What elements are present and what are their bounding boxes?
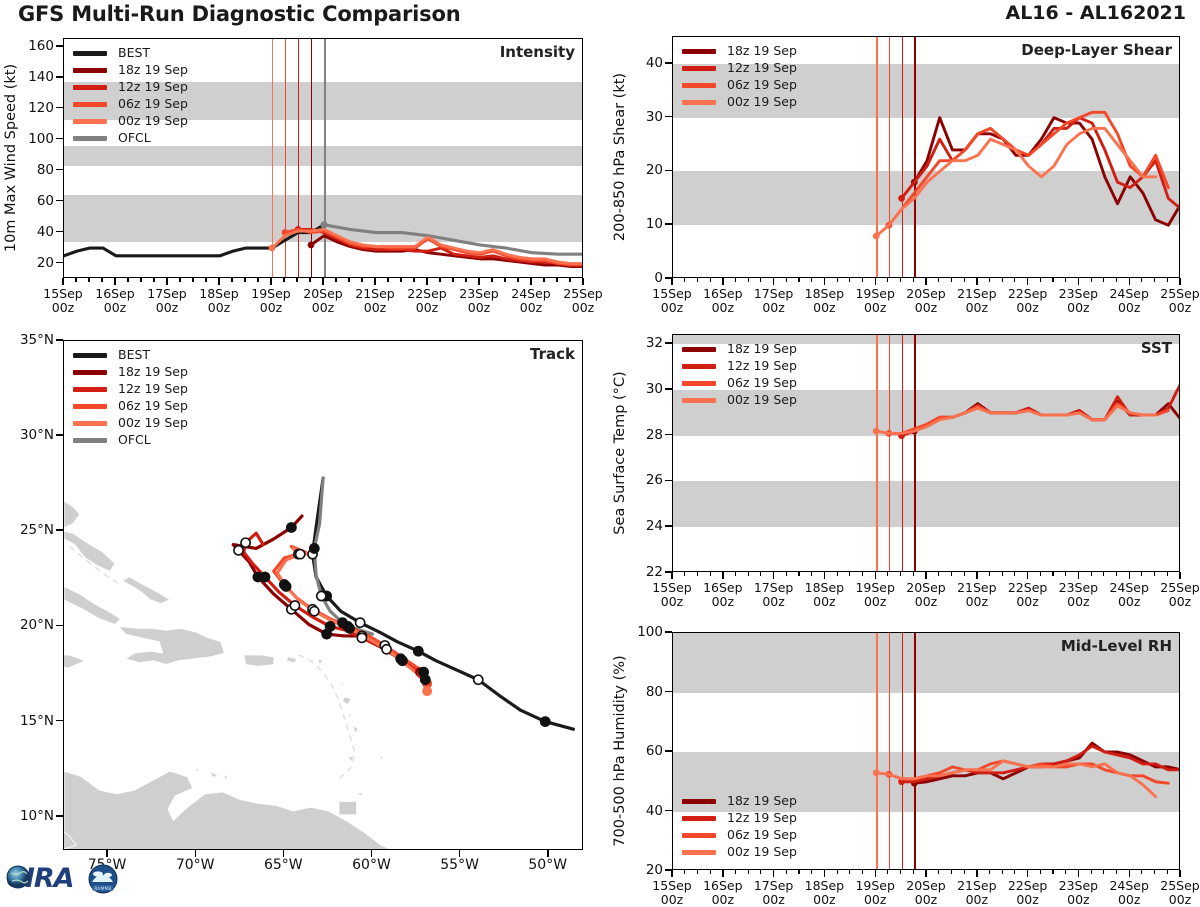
xtick-label-15Sep: 15Sep00z bbox=[43, 287, 82, 314]
xtick-minor bbox=[849, 870, 850, 874]
xtick-minor bbox=[387, 278, 388, 282]
legend-swatch-0 bbox=[682, 49, 716, 54]
ytick-label-shear-10: 10 bbox=[646, 216, 663, 232]
xtick-minor bbox=[748, 278, 749, 282]
series-line-00z-19-sep bbox=[876, 761, 1155, 797]
legend-item-12z-19-sep: 12z 19 Sep bbox=[682, 358, 797, 375]
lat-tick-mark bbox=[56, 339, 63, 341]
xtick-label-18Sep: 18Sep00z bbox=[805, 581, 844, 608]
track-time-marker bbox=[474, 675, 483, 684]
panel-rh: Mid-Level RH18z 19 Sep12z 19 Sep06z 19 S… bbox=[672, 632, 1180, 870]
track-time-marker bbox=[398, 656, 407, 665]
ytick-mark bbox=[665, 434, 672, 436]
legend-swatch-2 bbox=[73, 387, 107, 392]
xtick-minor bbox=[811, 870, 812, 874]
xtick-minor bbox=[283, 278, 284, 282]
legend-label-2: 06z 19 Sep bbox=[727, 377, 797, 390]
svg-text:RAMMB: RAMMB bbox=[94, 886, 111, 891]
xtick-mark-1 bbox=[722, 870, 724, 877]
legend-item-00z-19-sep: 00z 19 Sep bbox=[682, 94, 797, 111]
xtick-minor bbox=[244, 278, 245, 282]
xtick-label-19Sep: 19Sep00z bbox=[855, 581, 894, 608]
xtick-mark-4 bbox=[875, 572, 877, 579]
legend-shear: 18z 19 Sep12z 19 Sep06z 19 Sep00z 19 Sep bbox=[682, 43, 797, 111]
xtick-minor bbox=[900, 870, 901, 874]
landmass bbox=[353, 725, 358, 733]
xtick-minor bbox=[951, 278, 952, 282]
ytick-label-intensity-60: 60 bbox=[37, 193, 54, 209]
ytick-mark bbox=[665, 277, 672, 279]
legend-item-18z-19-sep: 18z 19 Sep bbox=[682, 43, 797, 60]
legend-label-0: 18z 19 Sep bbox=[727, 795, 797, 808]
panel-shear: Deep-Layer Shear18z 19 Sep12z 19 Sep06z … bbox=[672, 36, 1180, 278]
ytick-mark bbox=[56, 138, 63, 140]
xtick-minor bbox=[913, 572, 914, 576]
ytick-mark bbox=[665, 170, 672, 172]
legend-swatch-3 bbox=[682, 100, 716, 105]
lon-tick-mark bbox=[459, 850, 461, 857]
xtick-minor bbox=[710, 278, 711, 282]
ytick-mark bbox=[665, 810, 672, 812]
legend-label-1: 18z 19 Sep bbox=[118, 366, 188, 379]
xtick-minor bbox=[140, 278, 141, 282]
xtick-label-24Sep: 24Sep00z bbox=[1109, 879, 1148, 906]
xtick-minor bbox=[862, 278, 863, 282]
xtick-minor bbox=[439, 278, 440, 282]
xtick-minor bbox=[1103, 278, 1104, 282]
legend-item-06z-19-sep: 06z 19 Sep bbox=[682, 77, 797, 94]
xtick-minor bbox=[1014, 572, 1015, 576]
legend-label-3: 06z 19 Sep bbox=[118, 98, 188, 111]
ytick-mark bbox=[56, 169, 63, 171]
xtick-minor bbox=[1040, 278, 1041, 282]
landmass bbox=[355, 743, 357, 747]
legend-item-06z-19-sep: 06z 19 Sep bbox=[73, 398, 188, 415]
xtick-minor bbox=[1091, 278, 1092, 282]
legend-label-3: 06z 19 Sep bbox=[118, 400, 188, 413]
xtick-minor bbox=[1040, 572, 1041, 576]
legend-label-0: BEST bbox=[118, 349, 150, 362]
legend-item-12z-19-sep: 12z 19 Sep bbox=[682, 60, 797, 77]
legend-sst: 18z 19 Sep12z 19 Sep06z 19 Sep00z 19 Sep bbox=[682, 341, 797, 409]
legend-swatch-2 bbox=[682, 83, 716, 88]
xtick-minor bbox=[786, 572, 787, 576]
xtick-minor bbox=[1141, 572, 1142, 576]
lat-tick-15°N: 15°N bbox=[20, 713, 54, 729]
landmass bbox=[380, 754, 384, 760]
landmass bbox=[318, 659, 323, 665]
xtick-minor bbox=[735, 572, 736, 576]
legend-label-1: 12z 19 Sep bbox=[727, 812, 797, 825]
xtick-minor bbox=[1167, 278, 1168, 282]
legend-item-06z-19-sep: 06z 19 Sep bbox=[73, 96, 188, 113]
ytick-mark bbox=[665, 869, 672, 871]
xtick-mark-8 bbox=[1078, 870, 1080, 877]
xtick-minor bbox=[1091, 572, 1092, 576]
xtick-minor bbox=[964, 572, 965, 576]
ytick-mark bbox=[665, 62, 672, 64]
series-line-12z-19-sep bbox=[902, 118, 1179, 209]
xtick-label-21Sep: 21Sep00z bbox=[957, 581, 996, 608]
xtick-minor bbox=[951, 870, 952, 874]
lat-tick-35°N: 35°N bbox=[20, 332, 54, 348]
ytick-mark bbox=[665, 691, 672, 693]
legend-swatch-3 bbox=[73, 102, 107, 107]
xtick-label-22Sep: 22Sep00z bbox=[407, 287, 446, 314]
legend-swatch-1 bbox=[682, 364, 716, 369]
xtick-minor bbox=[798, 278, 799, 282]
ytick-label-shear-20: 20 bbox=[646, 162, 663, 178]
xtick-mark-7 bbox=[1027, 278, 1029, 285]
xtick-label-25Sep: 25Sep00z bbox=[1160, 287, 1199, 314]
lon-tick-mark bbox=[195, 850, 197, 857]
xtick-minor bbox=[75, 278, 76, 282]
xtick-minor bbox=[760, 278, 761, 282]
ytick-mark bbox=[665, 631, 672, 633]
ytick-label-rh-100: 100 bbox=[637, 624, 663, 640]
landmass bbox=[122, 577, 170, 604]
track-time-marker bbox=[414, 647, 423, 656]
xtick-minor bbox=[1141, 278, 1142, 282]
island-chain-outline bbox=[298, 655, 354, 779]
xtick-label-16Sep: 16Sep00z bbox=[703, 581, 742, 608]
xtick-minor bbox=[887, 278, 888, 282]
xtick-label-16Sep: 16Sep00z bbox=[703, 879, 742, 906]
xtick-mark-9 bbox=[1129, 572, 1131, 579]
landmass bbox=[64, 531, 115, 571]
xtick-minor bbox=[1040, 870, 1041, 874]
xtick-minor bbox=[1002, 870, 1003, 874]
legend-swatch-2 bbox=[682, 833, 716, 838]
xtick-mark-1 bbox=[722, 572, 724, 579]
legend-label-2: 12z 19 Sep bbox=[118, 383, 188, 396]
xtick-minor bbox=[849, 572, 850, 576]
xtick-minor bbox=[786, 278, 787, 282]
xtick-label-18Sep: 18Sep00z bbox=[199, 287, 238, 314]
legend-label-0: BEST bbox=[118, 47, 150, 60]
xtick-minor bbox=[1167, 870, 1168, 874]
xtick-mark-7 bbox=[1027, 870, 1029, 877]
xtick-minor bbox=[205, 278, 206, 282]
legend-swatch-3 bbox=[682, 398, 716, 403]
lat-tick-mark bbox=[56, 625, 63, 627]
xtick-minor bbox=[543, 278, 544, 282]
xtick-label-15Sep: 15Sep00z bbox=[652, 581, 691, 608]
xtick-minor bbox=[179, 278, 180, 282]
landmass bbox=[64, 501, 80, 528]
xtick-minor bbox=[88, 278, 89, 282]
xtick-label-17Sep: 17Sep00z bbox=[754, 581, 793, 608]
xtick-minor bbox=[697, 278, 698, 282]
track-time-marker bbox=[287, 523, 296, 532]
legend-label-1: 12z 19 Sep bbox=[727, 360, 797, 373]
ofcl-start-marker bbox=[320, 221, 327, 228]
track-time-marker bbox=[234, 546, 243, 555]
ytick-label-sst-32: 32 bbox=[646, 335, 663, 351]
landmass bbox=[64, 587, 120, 625]
xtick-mark-8 bbox=[478, 278, 480, 285]
series-line-06z-19-sep bbox=[889, 112, 1168, 225]
panel-title-intensity: Intensity bbox=[500, 43, 575, 61]
series-start-marker bbox=[873, 233, 880, 240]
xtick-minor bbox=[1014, 870, 1015, 874]
xtick-mark-10 bbox=[1179, 572, 1181, 579]
xtick-label-25Sep: 25Sep00z bbox=[563, 287, 602, 314]
xtick-minor bbox=[697, 870, 698, 874]
xtick-mark-6 bbox=[976, 278, 978, 285]
ytick-mark bbox=[665, 571, 672, 573]
landmass bbox=[194, 767, 199, 771]
panel-title-rh: Mid-Level RH bbox=[1061, 637, 1172, 655]
landmass bbox=[348, 712, 352, 718]
legend-swatch-3 bbox=[73, 404, 107, 409]
xtick-minor bbox=[1052, 870, 1053, 874]
legend-swatch-0 bbox=[682, 799, 716, 804]
xtick-mark-5 bbox=[925, 278, 927, 285]
ytick-mark bbox=[56, 231, 63, 233]
legend-track: BEST18z 19 Sep12z 19 Sep06z 19 Sep00z 19… bbox=[73, 347, 188, 449]
legend-label-3: 00z 19 Sep bbox=[727, 394, 797, 407]
xtick-minor bbox=[964, 278, 965, 282]
ytick-mark bbox=[56, 45, 63, 47]
xtick-mark-0 bbox=[671, 870, 673, 877]
ytick-label-intensity-120: 120 bbox=[28, 100, 54, 116]
xtick-mark-6 bbox=[976, 870, 978, 877]
xtick-mark-5 bbox=[322, 278, 324, 285]
xtick-mark-5 bbox=[925, 572, 927, 579]
lon-tick-55°W: 55°W bbox=[440, 859, 479, 873]
xtick-label-22Sep: 22Sep00z bbox=[1008, 879, 1047, 906]
lon-tick-60°W: 60°W bbox=[352, 859, 391, 873]
xtick-label-25Sep: 25Sep00z bbox=[1160, 581, 1199, 608]
landmass bbox=[339, 802, 357, 815]
xtick-minor bbox=[760, 870, 761, 874]
xtick-minor bbox=[1065, 278, 1066, 282]
track-time-marker bbox=[260, 572, 269, 581]
landmass bbox=[286, 657, 297, 663]
legend-swatch-1 bbox=[682, 816, 716, 821]
landmass bbox=[119, 626, 225, 664]
xtick-mark-3 bbox=[824, 572, 826, 579]
xtick-minor bbox=[517, 278, 518, 282]
xtick-mark-1 bbox=[722, 278, 724, 285]
xtick-label-16Sep: 16Sep00z bbox=[703, 287, 742, 314]
legend-swatch-0 bbox=[682, 347, 716, 352]
series-start-marker bbox=[873, 428, 880, 435]
ytick-label-intensity-140: 140 bbox=[28, 69, 54, 85]
xtick-minor bbox=[1103, 572, 1104, 576]
ytick-label-intensity-100: 100 bbox=[28, 131, 54, 147]
yaxis-label-intensity: 10m Max Wind Speed (kt) bbox=[3, 64, 19, 252]
legend-item-00z-19-sep: 00z 19 Sep bbox=[682, 392, 797, 409]
panel-sst: SST18z 19 Sep12z 19 Sep06z 19 Sep00z 19 … bbox=[672, 334, 1180, 572]
lat-tick-30°N: 30°N bbox=[20, 427, 54, 443]
track-line-ofcl bbox=[314, 478, 372, 634]
landmass bbox=[357, 792, 364, 796]
legend-swatch-3 bbox=[682, 850, 716, 855]
xtick-label-25Sep: 25Sep00z bbox=[1160, 879, 1199, 906]
xtick-mark-4 bbox=[875, 870, 877, 877]
ytick-mark bbox=[665, 388, 672, 390]
legend-swatch-5 bbox=[73, 136, 107, 141]
ytick-mark bbox=[665, 525, 672, 527]
xtick-minor bbox=[735, 278, 736, 282]
track-time-marker bbox=[345, 624, 354, 633]
xtick-label-15Sep: 15Sep00z bbox=[652, 879, 691, 906]
xtick-label-24Sep: 24Sep00z bbox=[511, 287, 550, 314]
track-time-marker bbox=[356, 618, 365, 627]
xtick-mark-10 bbox=[1179, 870, 1181, 877]
legend-label-3: 00z 19 Sep bbox=[727, 96, 797, 109]
ytick-label-intensity-160: 160 bbox=[28, 38, 54, 54]
xtick-minor bbox=[1052, 572, 1053, 576]
xtick-minor bbox=[862, 572, 863, 576]
series-start-marker bbox=[873, 769, 880, 776]
xtick-minor bbox=[786, 870, 787, 874]
xtick-minor bbox=[1091, 870, 1092, 874]
legend-label-5: OFCL bbox=[118, 434, 151, 447]
legend-label-0: 18z 19 Sep bbox=[727, 45, 797, 58]
xtick-label-17Sep: 17Sep00z bbox=[754, 287, 793, 314]
track-time-marker bbox=[290, 601, 299, 610]
ytick-mark bbox=[56, 76, 63, 78]
xtick-minor bbox=[989, 572, 990, 576]
xtick-minor bbox=[1103, 870, 1104, 874]
lon-tick-70°W: 70°W bbox=[176, 859, 215, 873]
xtick-minor bbox=[400, 278, 401, 282]
xtick-mark-0 bbox=[671, 278, 673, 285]
xtick-label-19Sep: 19Sep00z bbox=[855, 287, 894, 314]
legend-item-06z-19-sep: 06z 19 Sep bbox=[682, 827, 797, 844]
xtick-label-22Sep: 22Sep00z bbox=[1008, 581, 1047, 608]
xtick-minor bbox=[748, 870, 749, 874]
xtick-mark-7 bbox=[1027, 572, 1029, 579]
xtick-minor bbox=[127, 278, 128, 282]
legend-swatch-2 bbox=[73, 85, 107, 90]
lat-tick-mark bbox=[56, 720, 63, 722]
ytick-mark bbox=[665, 342, 672, 344]
xtick-label-20Sep: 20Sep00z bbox=[906, 879, 945, 906]
xtick-minor bbox=[491, 278, 492, 282]
xtick-mark-6 bbox=[976, 572, 978, 579]
ytick-mark bbox=[665, 480, 672, 482]
xtick-minor bbox=[951, 572, 952, 576]
xtick-minor bbox=[1141, 870, 1142, 874]
legend-label-4: 00z 19 Sep bbox=[118, 115, 188, 128]
xtick-mark-4 bbox=[270, 278, 272, 285]
track-line-best bbox=[313, 478, 574, 729]
landmass bbox=[224, 773, 228, 779]
legend-swatch-4 bbox=[73, 119, 107, 124]
xtick-label-19Sep: 19Sep00z bbox=[251, 287, 290, 314]
xtick-minor bbox=[153, 278, 154, 282]
xtick-minor bbox=[913, 278, 914, 282]
legend-swatch-1 bbox=[73, 68, 107, 73]
xtick-label-16Sep: 16Sep00z bbox=[95, 287, 134, 314]
xtick-minor bbox=[361, 278, 362, 282]
track-time-marker bbox=[282, 582, 291, 591]
track-time-marker bbox=[541, 717, 550, 726]
storm-id-title: AL16 - AL162021 bbox=[1006, 2, 1187, 24]
series-start-marker bbox=[898, 195, 905, 202]
xtick-minor bbox=[257, 278, 258, 282]
legend-item-00z-19-sep: 00z 19 Sep bbox=[73, 113, 188, 130]
series-line-00z-19-sep bbox=[876, 406, 1155, 433]
xtick-minor bbox=[900, 572, 901, 576]
xtick-mark-10 bbox=[1179, 278, 1181, 285]
track-time-marker bbox=[241, 538, 250, 547]
xtick-minor bbox=[697, 572, 698, 576]
xtick-mark-6 bbox=[374, 278, 376, 285]
lat-tick-20°N: 20°N bbox=[20, 617, 54, 633]
series-start-marker bbox=[269, 245, 276, 252]
xtick-minor bbox=[710, 870, 711, 874]
xtick-mark-2 bbox=[773, 278, 775, 285]
xtick-mark-3 bbox=[824, 278, 826, 285]
ytick-label-rh-20: 20 bbox=[646, 862, 663, 878]
xtick-label-23Sep: 23Sep00z bbox=[459, 287, 498, 314]
xtick-minor bbox=[1116, 278, 1117, 282]
legend-label-2: 12z 19 Sep bbox=[118, 81, 188, 94]
legend-item-12z-19-sep: 12z 19 Sep bbox=[682, 810, 797, 827]
xtick-minor bbox=[296, 278, 297, 282]
xtick-minor bbox=[1167, 572, 1168, 576]
xtick-mark-9 bbox=[530, 278, 532, 285]
lat-tick-10°N: 10°N bbox=[20, 808, 54, 824]
xtick-minor bbox=[989, 278, 990, 282]
lat-tick-mark bbox=[56, 815, 63, 817]
landmass bbox=[341, 682, 345, 686]
legend-item-best: BEST bbox=[73, 347, 188, 364]
series-line-12z-19-sep bbox=[902, 383, 1179, 436]
xtick-label-20Sep: 20Sep00z bbox=[303, 287, 342, 314]
xtick-minor bbox=[735, 870, 736, 874]
legend-label-4: 00z 19 Sep bbox=[118, 417, 188, 430]
ytick-mark bbox=[56, 200, 63, 202]
xtick-mark-0 bbox=[671, 572, 673, 579]
legend-label-0: 18z 19 Sep bbox=[727, 343, 797, 356]
lon-tick-mark bbox=[371, 850, 373, 857]
xtick-mark-4 bbox=[875, 278, 877, 285]
xtick-label-22Sep: 22Sep00z bbox=[1008, 287, 1047, 314]
xtick-minor bbox=[849, 278, 850, 282]
legend-swatch-4 bbox=[73, 421, 107, 426]
legend-label-2: 06z 19 Sep bbox=[727, 829, 797, 842]
yaxis-label-shear: 200-850 hPa Shear (kt) bbox=[612, 73, 628, 241]
xtick-minor bbox=[798, 572, 799, 576]
legend-item-00z-19-sep: 00z 19 Sep bbox=[682, 844, 797, 861]
ytick-label-rh-40: 40 bbox=[646, 803, 663, 819]
xtick-label-23Sep: 23Sep00z bbox=[1059, 581, 1098, 608]
xtick-minor bbox=[309, 278, 310, 282]
legend-item-12z-19-sep: 12z 19 Sep bbox=[73, 381, 188, 398]
xtick-minor bbox=[101, 278, 102, 282]
xtick-minor bbox=[465, 278, 466, 282]
xtick-label-20Sep: 20Sep00z bbox=[906, 581, 945, 608]
landmass bbox=[64, 655, 85, 668]
lat-tick-25°N: 25°N bbox=[20, 522, 54, 538]
xtick-label-18Sep: 18Sep00z bbox=[805, 287, 844, 314]
ytick-label-rh-60: 60 bbox=[646, 743, 663, 759]
xtick-minor bbox=[862, 870, 863, 874]
ytick-mark bbox=[56, 107, 63, 109]
legend-item-12z-19-sep: 12z 19 Sep bbox=[73, 79, 188, 96]
xtick-minor bbox=[710, 572, 711, 576]
xtick-minor bbox=[684, 870, 685, 874]
xtick-minor bbox=[231, 278, 232, 282]
page-title: GFS Multi-Run Diagnostic Comparison bbox=[18, 2, 460, 26]
xtick-minor bbox=[913, 870, 914, 874]
